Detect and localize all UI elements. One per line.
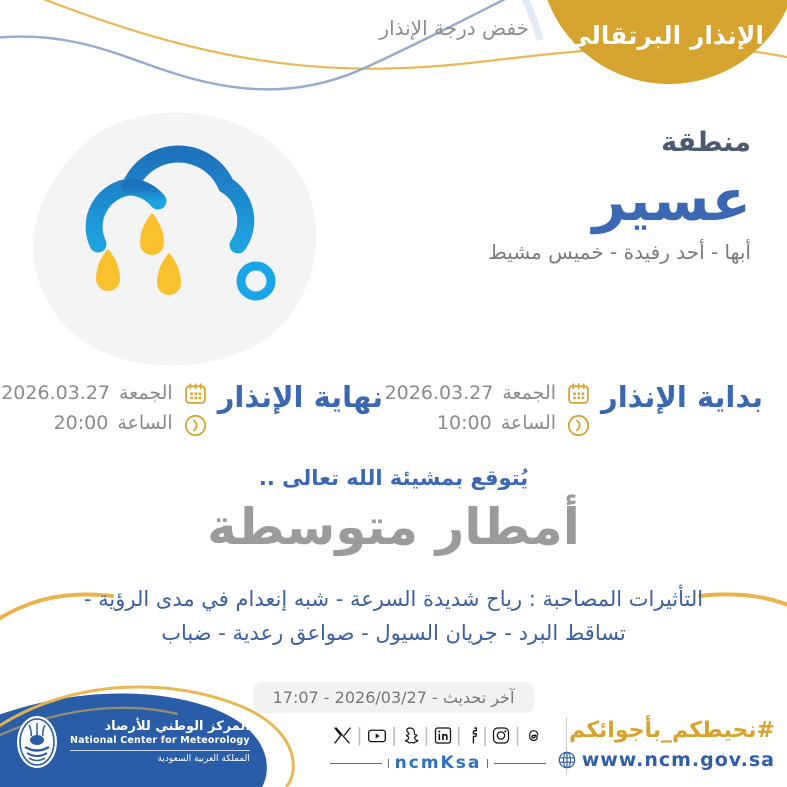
campaign-hashtag: #نحيطكم_بأجوائكم (557, 718, 775, 743)
clock-icon (566, 413, 591, 438)
alert-start-date: 2026.03.27 (385, 382, 494, 404)
ncm-brand-text: المركز الوطني للأرصاد National Center fo… (70, 719, 250, 765)
calendar-icon (566, 381, 591, 406)
alert-end-values: الجمعة 2026.03.27 الساعة 20:00 (1, 374, 172, 434)
site-block: #نحيطكم_بأجوائكم www.ncm.gov.sa (557, 718, 775, 771)
threads-icon[interactable] (524, 725, 544, 746)
calendar-icon (183, 381, 208, 406)
globe-icon (557, 750, 577, 770)
region-cities: أبها - أحد رفيدة - خميس مشيط (488, 240, 751, 264)
alert-end-block: نهاية الإنذار الجمع (1, 374, 383, 438)
alert-end-date-row: الجمعة 2026.03.27 (1, 382, 172, 404)
region-block: منطقة عسير أبها - أحد رفيدة - خميس مشيط (488, 128, 751, 264)
alert-end-day: الجمعة (119, 382, 173, 404)
weather-alert-card: الإنذار البرتقالي خفض درجة الإنذار منطقة… (0, 0, 787, 787)
youtube-icon[interactable] (366, 725, 388, 746)
alert-start-title: بداية الإنذار (601, 374, 763, 414)
alert-time-section: بداية الإنذار الجمع (0, 374, 787, 450)
impacts-line-2: تساقط البرد - جريان السيول - صواعق رعدية… (0, 616, 787, 650)
alert-start-hour-label: الساعة (501, 412, 556, 434)
alert-end-hour-label: الساعة (117, 412, 172, 434)
ncm-brand: المركز الوطني للأرصاد National Center fo… (14, 713, 250, 771)
alert-end-time-row: الساعة 20:00 (1, 412, 172, 434)
clock-icon (183, 413, 208, 438)
snapchat-icon[interactable] (400, 725, 420, 746)
social-separator: | (423, 724, 429, 746)
alert-start-day: الجمعة (502, 382, 556, 404)
forecast-block: يُتوقع بمشيئة الله تعالى .. أمطار متوسطة (0, 466, 787, 556)
handle-rule-right (494, 763, 546, 764)
website-url[interactable]: www.ncm.gov.sa (582, 749, 775, 771)
social-icon-row: | | | | (320, 724, 556, 746)
alert-start-icons (566, 374, 591, 438)
forecast-headline: أمطار متوسطة (0, 498, 787, 556)
social-handle-row: ncmKsa (320, 753, 556, 773)
weather-icon-area (24, 104, 334, 372)
alert-start-date-row: الجمعة 2026.03.27 (385, 382, 556, 404)
alert-end-time: 20:00 (54, 412, 109, 434)
brand-name-en: National Center for Meteorology (70, 735, 250, 751)
social-separator: | (482, 724, 488, 746)
impacts-line-1: التأثيرات المصاحبة : رياح شديدة السرعة -… (0, 582, 787, 616)
alert-start-values: الجمعة 2026.03.27 الساعة 10:00 (385, 374, 556, 434)
handle-tick-left (388, 759, 389, 768)
alert-start-time-row: الساعة 10:00 (385, 412, 556, 434)
x-twitter-icon[interactable] (332, 725, 353, 746)
alert-start-time: 10:00 (437, 412, 492, 434)
social-separator: | (456, 724, 462, 746)
alert-downgrade-note: خفض درجة الإنذار (379, 16, 529, 40)
region-name: عسير (488, 164, 751, 237)
instagram-icon[interactable] (491, 725, 511, 746)
alert-end-icons (183, 374, 208, 438)
alert-end-title: نهاية الإنذار (218, 374, 383, 414)
forecast-subtitle: يُتوقع بمشيئة الله تعالى .. (0, 466, 787, 490)
footer: المركز الوطني للأرصاد National Center fo… (0, 701, 787, 787)
ncm-emblem-icon (14, 713, 60, 771)
region-label: منطقة (488, 128, 751, 158)
social-handle[interactable]: ncmKsa (395, 753, 482, 773)
brand-country-ar: المملكة العربية السعودية (70, 754, 250, 765)
impacts-text: التأثيرات المصاحبة : رياح شديدة السرعة -… (0, 582, 787, 650)
alert-start-block: بداية الإنذار الجمع (385, 374, 763, 438)
alert-end-date: 2026.03.27 (1, 382, 110, 404)
social-separator: | (356, 724, 362, 746)
handle-tick-right (487, 759, 488, 768)
linkedin-icon[interactable] (433, 725, 453, 746)
facebook-icon[interactable] (465, 725, 479, 746)
alert-level-label: الإنذار البرتقالي (566, 21, 764, 50)
social-links: | | | | (320, 724, 556, 773)
website-row[interactable]: www.ncm.gov.sa (557, 749, 775, 771)
handle-rule-left (330, 763, 382, 764)
rain-cloud-icon (24, 104, 334, 372)
brand-name-ar: المركز الوطني للأرصاد (70, 719, 250, 735)
social-separator: | (391, 724, 397, 746)
social-separator: | (514, 724, 520, 746)
alert-level-badge: الإنذار البرتقالي (539, 0, 787, 84)
